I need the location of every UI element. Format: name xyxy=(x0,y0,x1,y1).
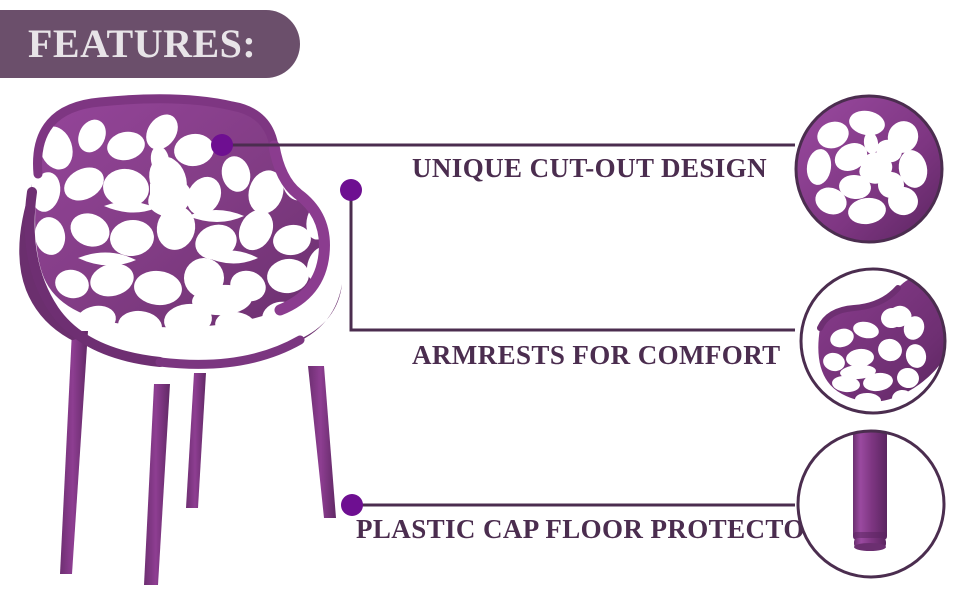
connector-line-2 xyxy=(351,190,795,330)
detail-circle-armrest xyxy=(798,266,948,416)
product-chair-illustration xyxy=(8,88,368,593)
features-infographic: FEATURES: xyxy=(0,0,970,600)
chair-legs xyxy=(60,331,336,585)
feature-label-2: ARMRESTS FOR COMFORT xyxy=(412,342,781,369)
detail-circle-cutout-design xyxy=(793,93,945,245)
detail-circle-floor-protector xyxy=(795,428,947,580)
feature-label-3: PLASTIC CAP FLOOR PROTECTORS xyxy=(356,516,840,543)
feature-label-1: UNIQUE CUT-OUT DESIGN xyxy=(412,155,767,182)
page-title: FEATURES: xyxy=(0,24,256,64)
features-header-banner: FEATURES: xyxy=(0,10,300,78)
